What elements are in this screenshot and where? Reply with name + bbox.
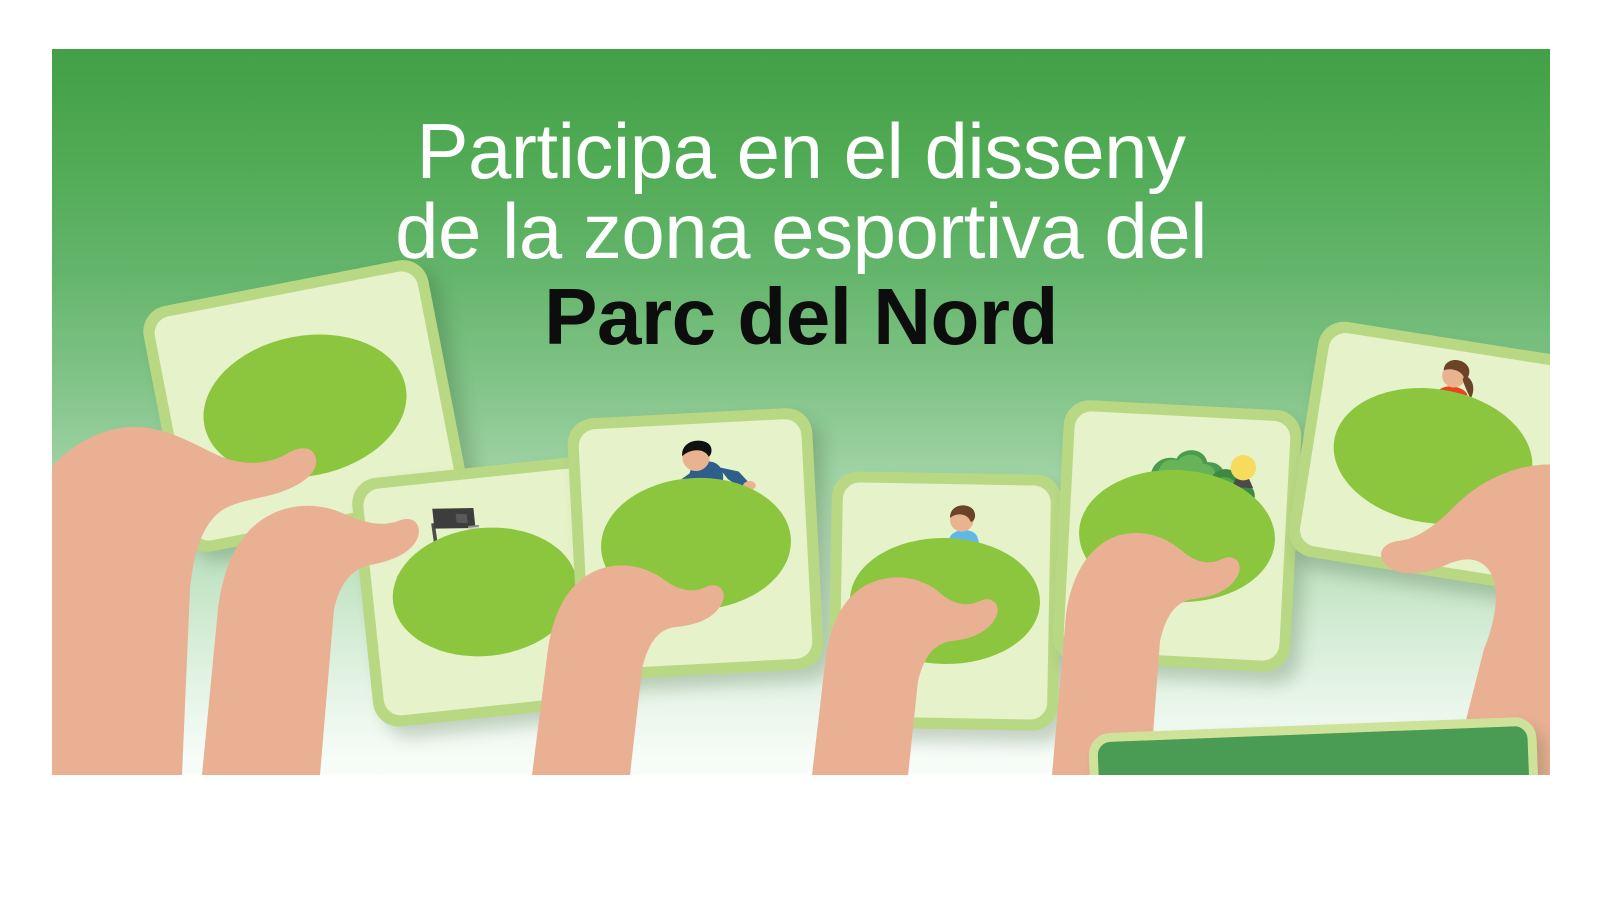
card-cyclist[interactable]	[828, 471, 1062, 731]
banner-panel: Participa en el disseny de la zona espor…	[52, 49, 1550, 775]
headline-line-1: Participa en el disseny	[52, 111, 1550, 191]
card-park-bench-face	[1063, 411, 1291, 662]
headline-line-2: de la zona esportiva del	[52, 191, 1550, 271]
card-runner-face	[1298, 331, 1550, 582]
card-skate-ramp[interactable]	[566, 407, 824, 681]
card-runner[interactable]	[1285, 318, 1550, 594]
card-park-bench[interactable]	[1051, 399, 1302, 673]
cta-box[interactable]: Fes la teva aportació!	[1088, 716, 1544, 775]
card-cyclist-face	[839, 482, 1051, 720]
poster-stage: Participa en el disseny de la zona espor…	[0, 0, 1600, 900]
footer-logos: Ajuntament de Sabadell Hi col·labora:	[0, 775, 1600, 900]
card-skate-ramp-face	[578, 418, 813, 669]
